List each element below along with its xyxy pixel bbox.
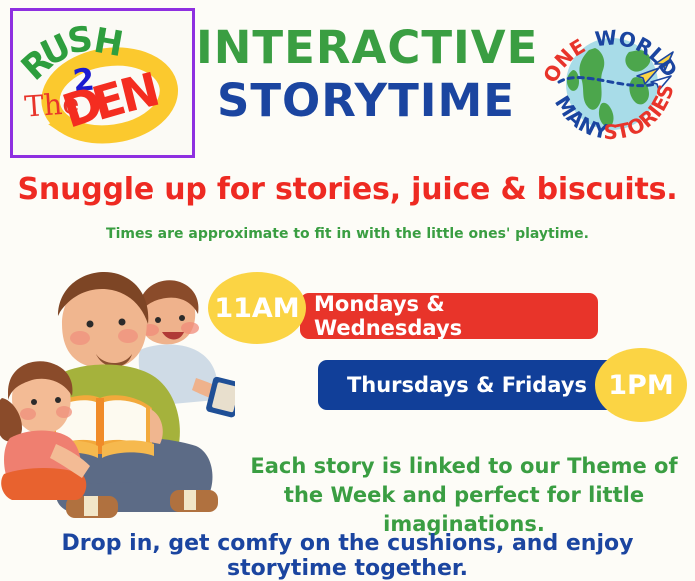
title-line-interactive: INTERACTIVE [196,22,536,74]
tagline: Snuggle up for stories, juice & biscuits… [0,172,695,207]
session-days-label-afternoon: Thursdays & Fridays [347,373,609,397]
session-days-label-morning: Mondays & Wednesdays [300,292,598,340]
one-world-many-stories-logo: ONE WORLD MANY STORIES [537,8,687,160]
session-days-bar-afternoon: Thursdays & Fridays [318,360,638,410]
times-approximate-note: Times are approximate to fit in with the… [0,226,695,242]
footer-invitation-note: Drop in, get comfy on the cushions, and … [0,531,695,581]
family-reading-illustration-art [0,258,235,524]
session-row-afternoon: Thursdays & Fridays 1PM [318,348,687,422]
session-row-morning: Mondays & Wednesdays 11AM [208,272,598,344]
rush-2-the-den-logo: R U S H 2 The D E N [10,8,195,158]
session-time-label-afternoon: 1PM [608,370,673,401]
title-line-storytime: STORYTIME [196,74,536,128]
session-days-bar-morning: Mondays & Wednesdays [300,293,598,339]
theme-of-the-week-note: Each story is linked to our Theme of the… [244,452,684,539]
poster-canvas: R U S H 2 The D E N [0,0,695,580]
session-time-badge-morning: 11AM [208,272,306,344]
session-time-badge-afternoon: 1PM [595,348,687,422]
family-reading-illustration [0,258,235,524]
session-time-label-morning: 11AM [214,293,299,324]
page-title: INTERACTIVE STORYTIME [196,22,536,128]
one-world-many-stories-logo-art: ONE WORLD MANY STORIES [537,8,687,160]
rush-2-the-den-logo-art: R U S H 2 The D E N [13,11,192,155]
